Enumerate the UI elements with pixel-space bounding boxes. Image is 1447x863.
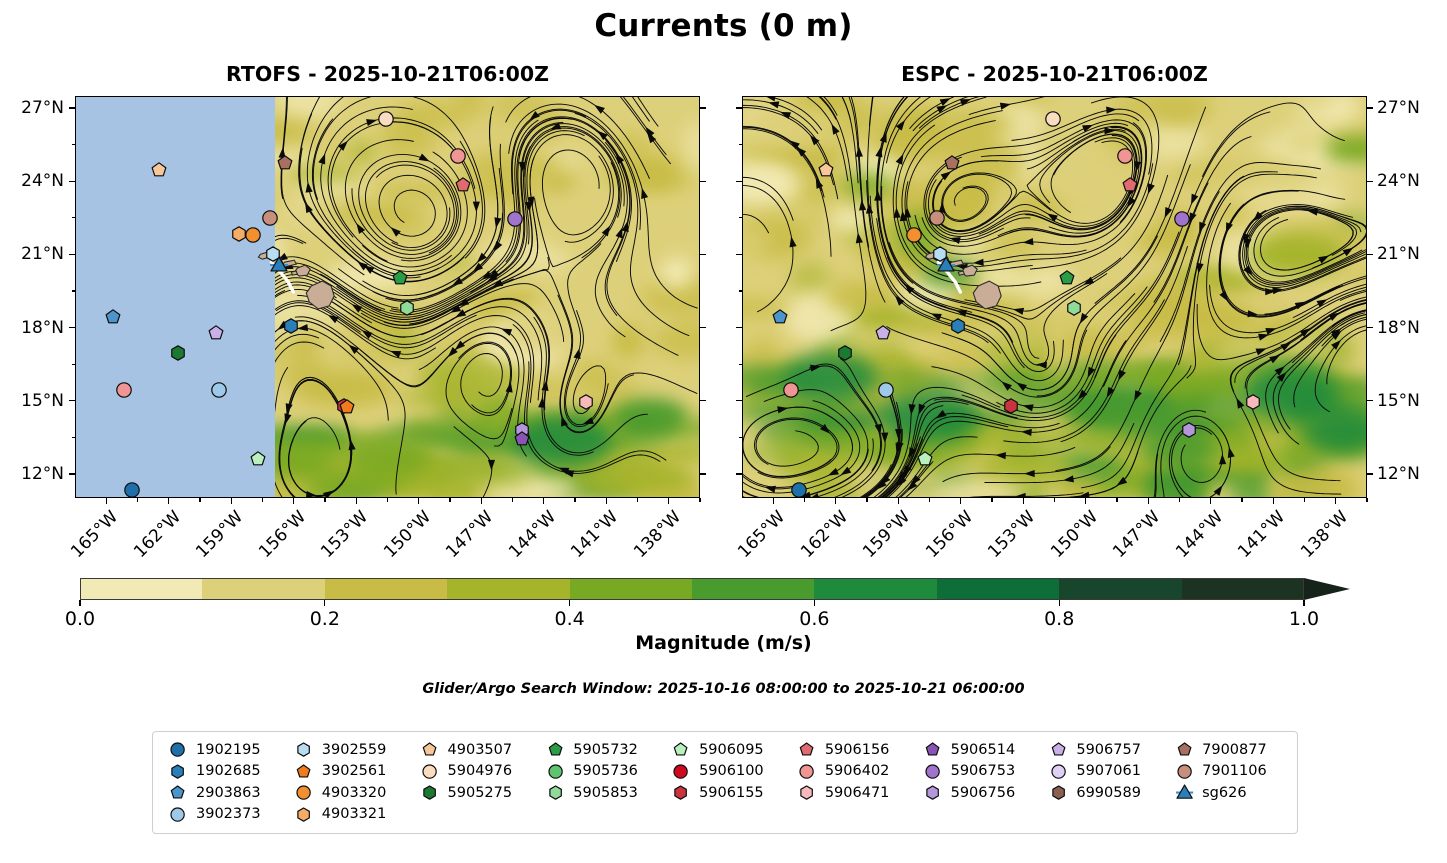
platform-marker-5906471[interactable]: [1242, 392, 1262, 412]
legend-item-label: 1902195: [193, 742, 261, 758]
legend-item-5905853[interactable]: 5905853: [540, 782, 666, 804]
platform-marker-5906095[interactable]: [915, 449, 935, 469]
platform-marker-5906753[interactable]: [1172, 209, 1192, 229]
platform-marker-5906756[interactable]: [1179, 420, 1199, 440]
hexagon-marker-icon: [289, 740, 319, 759]
colorbar-label: Magnitude (m/s): [0, 632, 1447, 654]
platform-marker-5906471[interactable]: [575, 392, 595, 412]
circle-marker-icon: [666, 762, 696, 781]
pentagon-marker-icon: [1043, 740, 1073, 759]
colorbar-tick: [814, 600, 815, 606]
legend-column: 590651459067535906756: [918, 739, 1044, 825]
y-tick: [69, 181, 75, 182]
x-tick: [773, 498, 774, 504]
platform-marker-5906402[interactable]: [1115, 146, 1135, 166]
pentagon-marker-icon: [289, 762, 319, 781]
legend-column: 590573259057365905853: [540, 739, 666, 825]
y-axis-label-right: 12°N: [1377, 464, 1420, 484]
y-tick: [69, 400, 75, 401]
x-axis-label: 138°W: [1284, 507, 1352, 575]
legend-item-label: 5906156: [822, 742, 890, 758]
colorbar-tick-label: 0.4: [554, 608, 584, 630]
platform-marker-5906757[interactable]: [205, 323, 225, 343]
x-axis-label: 141°W: [1222, 507, 1290, 575]
x-tick: [543, 498, 544, 504]
colorbar-tick: [79, 600, 80, 606]
y-axis-label: 24°N: [0, 171, 64, 191]
platform-marker-sg626[interactable]: [936, 255, 956, 275]
y-tick: [736, 473, 742, 474]
search-window-text: Glider/Argo Search Window: 2025-10-16 08…: [0, 681, 1447, 697]
platform-marker-3902373[interactable]: [209, 380, 229, 400]
pentagon-marker-icon: [666, 740, 696, 759]
x-tick: [1148, 498, 1149, 504]
legend-item-label: 7901106: [1199, 763, 1267, 779]
legend-item-5907061[interactable]: 5907061: [1043, 761, 1169, 783]
legend-item-4903321[interactable]: 4903321: [289, 804, 415, 826]
platform-marker-4903320[interactable]: [243, 225, 263, 245]
legend-item-label: 3902561: [319, 763, 387, 779]
platform-marker-1902685[interactable]: [281, 316, 301, 336]
legend-column: 590609559061005906155: [666, 739, 792, 825]
platform-marker-1902685[interactable]: [948, 316, 968, 336]
legend-item-label: 2903863: [193, 785, 261, 801]
legend-item-label: 5906155: [696, 785, 764, 801]
colorbar-tick: [1059, 600, 1060, 606]
platform-marker-5906514[interactable]: [512, 429, 532, 449]
colorbar-tick: [1303, 600, 1304, 606]
pentagon-marker-icon: [163, 783, 193, 802]
y-tick: [700, 254, 706, 255]
x-tick-minor: [929, 498, 930, 502]
legend-item-3902559[interactable]: 3902559: [289, 739, 415, 761]
y-tick: [1367, 254, 1373, 255]
x-tick: [960, 498, 961, 504]
legend-item-label: 3902373: [193, 806, 261, 822]
y-tick-minor: [739, 437, 743, 438]
x-axis-label: 153°W: [305, 507, 373, 575]
legend-item-5906100[interactable]: 5906100: [666, 761, 792, 783]
legend-item-label: 5905275: [445, 785, 513, 801]
legend-column: 1902195190268529038633902373: [163, 739, 289, 825]
y-tick: [700, 181, 706, 182]
y-tick: [1367, 400, 1373, 401]
x-tick-minor: [866, 498, 867, 502]
x-axis-label: 159°W: [847, 507, 915, 575]
platform-marker-5905853[interactable]: [1064, 298, 1084, 318]
platform-marker-5905853[interactable]: [397, 298, 417, 318]
x-axis-label: 162°W: [784, 507, 852, 575]
x-axis-label: 150°W: [1034, 507, 1102, 575]
legend-item-label: 5906471: [822, 785, 890, 801]
x-axis-label: 147°W: [430, 507, 498, 575]
x-axis-label: 144°W: [1159, 507, 1227, 575]
x-axis-label: 144°W: [492, 507, 560, 575]
x-tick: [356, 498, 357, 504]
x-axis-label: 153°W: [972, 507, 1040, 575]
map-panel-espc[interactable]: [742, 96, 1367, 498]
platform-marker-5906156[interactable]: [1120, 175, 1140, 195]
x-tick: [481, 498, 482, 504]
x-tick-minor: [199, 498, 200, 502]
x-axis-label: 165°W: [55, 507, 123, 575]
platform-marker-7900877[interactable]: [942, 153, 962, 173]
legend-item-label: 5905736: [570, 763, 638, 779]
platform-marker-5906095[interactable]: [248, 449, 268, 469]
circle-marker-icon: [918, 762, 948, 781]
y-tick-minor: [739, 217, 743, 218]
y-tick: [700, 473, 706, 474]
platform-marker-5906402b[interactable]: [114, 380, 134, 400]
circle-marker-icon: [163, 805, 193, 824]
glider-track: [76, 97, 699, 497]
legend-item-label: 5906100: [696, 763, 764, 779]
legend-item-5906095[interactable]: 5906095: [666, 739, 792, 761]
x-tick: [1335, 498, 1336, 504]
legend-item-5904976[interactable]: 5904976: [415, 761, 541, 783]
x-tick-minor: [512, 498, 513, 502]
x-tick: [835, 498, 836, 504]
panel-title-espc: ESPC - 2025-10-21T06:00Z: [742, 62, 1367, 86]
y-tick-minor: [739, 290, 743, 291]
x-tick-minor: [1116, 498, 1117, 502]
platform-marker-5906753[interactable]: [505, 209, 525, 229]
y-axis-label: 21°N: [0, 244, 64, 264]
platform-legend: 1902195190268529038633902373390255939025…: [152, 731, 1298, 834]
legend-column: 3902559390256149033204903321: [289, 739, 415, 825]
platform-marker-5904976[interactable]: [376, 109, 396, 129]
y-tick: [736, 327, 742, 328]
legend-item-5906514[interactable]: 5906514: [918, 739, 1044, 761]
platform-marker-7900877[interactable]: [275, 153, 295, 173]
y-tick: [736, 254, 742, 255]
y-tick: [700, 327, 706, 328]
legend-item-label: 1902685: [193, 763, 261, 779]
colorbar-tick-label: 0.0: [65, 608, 95, 630]
platform-marker-1902195[interactable]: [789, 480, 809, 497]
y-tick-minor: [72, 217, 76, 218]
circle-marker-icon: [415, 762, 445, 781]
y-tick: [69, 254, 75, 255]
glider-track: [743, 97, 1366, 497]
glider-icon: [1169, 783, 1199, 802]
legend-item-2903863[interactable]: 2903863: [163, 782, 289, 804]
y-axis-label: 15°N: [0, 391, 64, 411]
x-tick-minor: [387, 498, 388, 502]
x-axis-label: 156°W: [242, 507, 310, 575]
legend-item-5905732[interactable]: 5905732: [540, 739, 666, 761]
platform-marker-5906402[interactable]: [448, 146, 468, 166]
platform-marker-4903320[interactable]: [903, 225, 923, 245]
y-axis-label-right: 21°N: [1377, 244, 1420, 264]
y-tick: [736, 107, 742, 108]
y-tick: [736, 400, 742, 401]
hexagon-marker-icon: [415, 783, 445, 802]
x-tick-minor: [1054, 498, 1055, 502]
y-tick: [700, 400, 706, 401]
hexagon-marker-icon: [666, 783, 696, 802]
y-axis-label-right: 15°N: [1377, 391, 1420, 411]
legend-item-7901106[interactable]: 7901106: [1169, 761, 1287, 783]
legend-item-label: 5906095: [696, 742, 764, 758]
x-axis-label: 165°W: [722, 507, 790, 575]
legend-item-5906753[interactable]: 5906753: [918, 761, 1044, 783]
x-tick: [418, 498, 419, 504]
legend-item-label: 6990589: [1073, 785, 1141, 801]
x-tick-minor: [137, 498, 138, 502]
platform-marker-3902561[interactable]: [337, 396, 357, 416]
colorbar-ticks: 0.00.20.40.60.81.0: [80, 578, 1350, 638]
x-tick: [1085, 498, 1086, 504]
x-tick-minor: [1304, 498, 1305, 502]
y-tick: [1367, 107, 1373, 108]
x-tick-minor: [262, 498, 263, 502]
platform-marker-5904976[interactable]: [1043, 109, 1063, 129]
x-tick: [668, 498, 669, 504]
legend-item-label: 5906756: [948, 785, 1016, 801]
x-tick-minor: [699, 498, 700, 502]
x-axis-label: 156°W: [909, 507, 977, 575]
legend-item-5906156[interactable]: 5906156: [792, 739, 918, 761]
legend-item-5905275[interactable]: 5905275: [415, 782, 541, 804]
legend-column: 590615659064025906471: [792, 739, 918, 825]
x-tick: [168, 498, 169, 504]
x-tick: [1210, 498, 1211, 504]
platform-marker-sg626[interactable]: [269, 255, 289, 275]
legend-item-label: 3902559: [319, 742, 387, 758]
x-tick: [231, 498, 232, 504]
x-axis-label: 159°W: [180, 507, 248, 575]
x-tick-minor: [637, 498, 638, 502]
legend-item-3902373[interactable]: 3902373: [163, 804, 289, 826]
platform-marker-5905275[interactable]: [834, 343, 854, 363]
legend-item-5906402[interactable]: 5906402: [792, 761, 918, 783]
colorbar-tick-label: 0.8: [1044, 608, 1074, 630]
y-tick: [69, 327, 75, 328]
legend-item-4903320[interactable]: 4903320: [289, 782, 415, 804]
hexagon-marker-icon: [540, 783, 570, 802]
x-axis-label: 162°W: [117, 507, 185, 575]
x-tick: [898, 498, 899, 504]
x-tick: [106, 498, 107, 504]
legend-item-label: 4903321: [319, 806, 387, 822]
legend-column: 590675759070616990589: [1043, 739, 1169, 825]
colorbar-tick: [569, 600, 570, 606]
legend-item-label: sg626: [1199, 785, 1246, 801]
x-tick: [1023, 498, 1024, 504]
x-tick-minor: [449, 498, 450, 502]
circle-marker-icon: [289, 783, 319, 802]
legend-item-label: 5906402: [822, 763, 890, 779]
legend-item-label: 5906514: [948, 742, 1016, 758]
x-axis-label: 138°W: [617, 507, 685, 575]
legend-item-5906471[interactable]: 5906471: [792, 782, 918, 804]
y-tick-minor: [72, 144, 76, 145]
legend-item-3902561[interactable]: 3902561: [289, 761, 415, 783]
y-tick: [736, 181, 742, 182]
legend-item-7900877[interactable]: 7900877: [1169, 739, 1287, 761]
map-panel-rtofs[interactable]: [75, 96, 700, 498]
platform-marker-7901106[interactable]: [927, 208, 947, 228]
circle-marker-icon: [792, 762, 822, 781]
colorbar-tick: [324, 600, 325, 606]
x-tick: [293, 498, 294, 504]
legend-item-sg626[interactable]: sg626: [1169, 782, 1287, 804]
platform-marker-5906155[interactable]: [1001, 396, 1021, 416]
panel-title-rtofs: RTOFS - 2025-10-21T06:00Z: [75, 62, 700, 86]
x-tick: [606, 498, 607, 504]
hexagon-marker-icon: [163, 762, 193, 781]
legend-item-5906756[interactable]: 5906756: [918, 782, 1044, 804]
legend-item-label: 5906753: [948, 763, 1016, 779]
pentagon-marker-icon: [415, 740, 445, 759]
legend-column: 490350759049765905275: [415, 739, 541, 825]
platform-marker-5906402b[interactable]: [781, 380, 801, 400]
y-axis-label-right: 18°N: [1377, 318, 1420, 338]
colorbar-tick-label: 0.2: [310, 608, 340, 630]
circle-marker-icon: [540, 762, 570, 781]
pentagon-marker-icon: [1169, 740, 1199, 759]
x-tick-minor: [804, 498, 805, 502]
platform-marker-5905275[interactable]: [167, 343, 187, 363]
platform-marker-7901106[interactable]: [260, 208, 280, 228]
platform-marker-4903507[interactable]: [149, 160, 169, 180]
y-axis-label-right: 24°N: [1377, 171, 1420, 191]
pentagon-marker-icon: [792, 740, 822, 759]
legend-item-4903507[interactable]: 4903507: [415, 739, 541, 761]
page-title: Currents (0 m): [0, 8, 1447, 44]
platform-marker-2903863[interactable]: [770, 306, 790, 326]
y-axis-label: 12°N: [0, 464, 64, 484]
platform-marker-3902373[interactable]: [876, 380, 896, 400]
y-tick: [1367, 473, 1373, 474]
x-axis-label: 150°W: [367, 507, 435, 575]
colorbar-tick-label: 0.6: [799, 608, 829, 630]
y-tick-minor: [739, 364, 743, 365]
circle-marker-icon: [1043, 762, 1073, 781]
legend-item-1902195[interactable]: 1902195: [163, 739, 289, 761]
y-tick-minor: [739, 144, 743, 145]
x-tick-minor: [1179, 498, 1180, 502]
legend-item-label: 5906757: [1073, 742, 1141, 758]
platform-marker-2903863[interactable]: [103, 306, 123, 326]
legend-item-5906757[interactable]: 5906757: [1043, 739, 1169, 761]
y-axis-label: 18°N: [0, 318, 64, 338]
x-axis-label: 141°W: [555, 507, 623, 575]
x-tick: [1273, 498, 1274, 504]
platform-marker-4903507[interactable]: [816, 160, 836, 180]
x-tick-minor: [574, 498, 575, 502]
y-tick: [1367, 181, 1373, 182]
hexagon-marker-icon: [918, 783, 948, 802]
platform-marker-5905732[interactable]: [1057, 268, 1077, 288]
hexagon-marker-icon: [792, 783, 822, 802]
y-tick-minor: [72, 364, 76, 365]
platform-marker-5905732[interactable]: [390, 268, 410, 288]
x-tick-minor: [324, 498, 325, 502]
colorbar-tick-label: 1.0: [1289, 608, 1319, 630]
hexagon-marker-icon: [289, 805, 319, 824]
platform-marker-5906757[interactable]: [872, 323, 892, 343]
y-tick: [700, 107, 706, 108]
legend-item-1902685[interactable]: 1902685: [163, 761, 289, 783]
legend-item-label: 4903507: [445, 742, 513, 758]
y-tick: [69, 107, 75, 108]
legend-item-5906155[interactable]: 5906155: [666, 782, 792, 804]
circle-marker-icon: [1169, 762, 1199, 781]
y-tick-minor: [72, 290, 76, 291]
y-tick: [69, 473, 75, 474]
legend-item-label: 4903320: [319, 785, 387, 801]
circle-marker-icon: [163, 740, 193, 759]
legend-item-label: 5907061: [1073, 763, 1141, 779]
pentagon-marker-icon: [540, 740, 570, 759]
legend-item-6990589[interactable]: 6990589: [1043, 782, 1169, 804]
platform-marker-1902195[interactable]: [122, 480, 142, 497]
hexagon-marker-icon: [1043, 783, 1073, 802]
legend-item-label: 5904976: [445, 763, 513, 779]
y-axis-label: 27°N: [0, 98, 64, 118]
x-tick-minor: [1241, 498, 1242, 502]
pentagon-marker-icon: [918, 740, 948, 759]
x-tick-minor: [991, 498, 992, 502]
platform-marker-5906156[interactable]: [453, 175, 473, 195]
legend-item-label: 5905853: [570, 785, 638, 801]
y-tick-minor: [72, 437, 76, 438]
legend-column: 79008777901106sg626: [1169, 739, 1287, 825]
legend-item-5905736[interactable]: 5905736: [540, 761, 666, 783]
x-tick-minor: [1366, 498, 1367, 502]
y-axis-label-right: 27°N: [1377, 98, 1420, 118]
legend-item-label: 5905732: [570, 742, 638, 758]
y-tick: [1367, 327, 1373, 328]
legend-item-label: 7900877: [1199, 742, 1267, 758]
x-axis-label: 147°W: [1097, 507, 1165, 575]
